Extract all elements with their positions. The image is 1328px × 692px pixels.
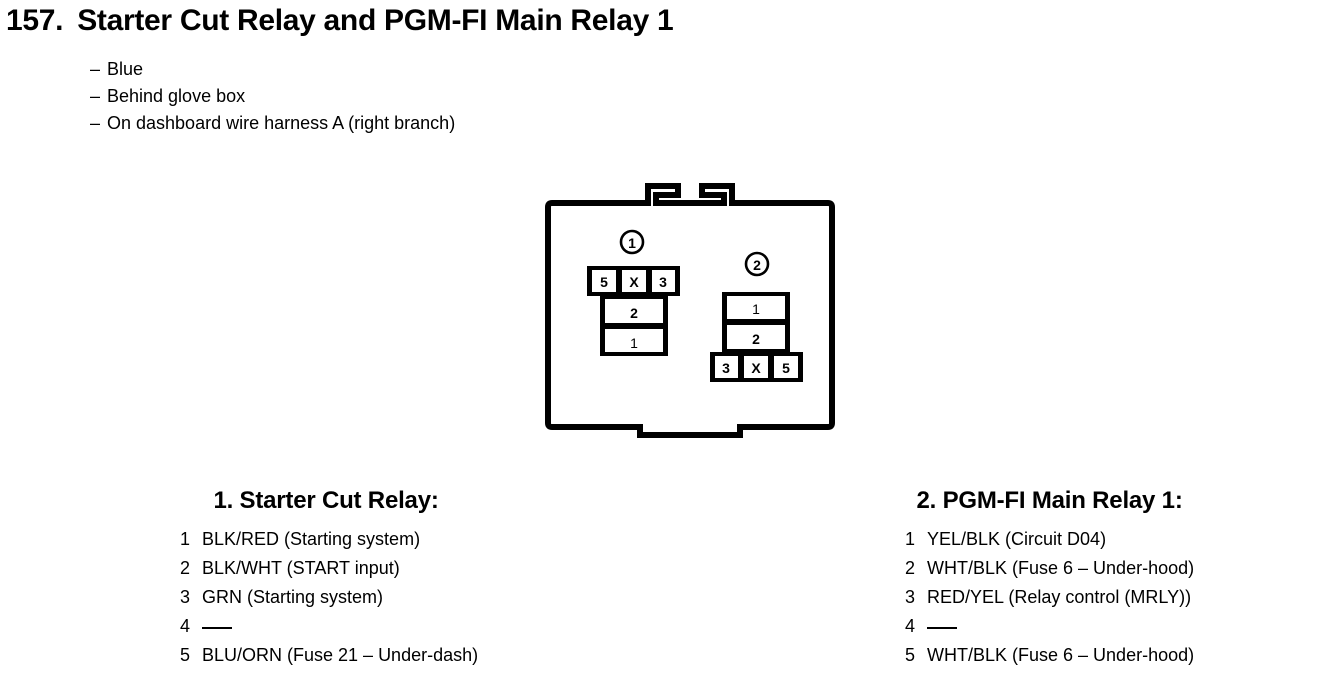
pin-description: WHT/BLK (Fuse 6 – Under-hood) [927,645,1194,666]
pin-cell-label: X [751,360,761,376]
connector-diagram: 1 5 X 3 2 1 [530,178,870,443]
pin-number: 4 [905,616,927,637]
pin-description: WHT/BLK (Fuse 6 – Under-hood) [927,558,1194,579]
legend-row: 4 [180,616,478,645]
page-title-number: 157. [6,4,63,37]
marker-2-label: 2 [753,257,761,273]
page-title-text: Starter Cut Relay and PGM-FI Main Relay … [77,4,673,37]
pin-empty-dash-icon [202,619,232,629]
legend-row: 1 YEL/BLK (Circuit D04) [905,529,1194,558]
block1-mid-cell: 2 [600,296,668,326]
legend-pgm-fi-main-relay: 2. PGM-FI Main Relay 1: 1 YEL/BLK (Circu… [905,487,1194,674]
dash-bullet-icon: – [90,83,107,110]
note-label: On dashboard wire harness A (right branc… [107,113,455,133]
pin-number: 4 [180,616,202,637]
pin-cell-label: 5 [600,274,608,290]
legend-row: 3 GRN (Starting system) [180,587,478,616]
block2-mid-cell: 2 [722,322,790,352]
terminal-marker-1: 1 [621,231,643,253]
legend-row: 1 BLK/RED (Starting system) [180,529,478,558]
terminal-block-1: 1 5 X 3 2 1 [587,231,680,356]
legend-title: 2. PGM-FI Main Relay 1: [905,487,1194,515]
pin-number: 5 [905,645,927,666]
pin-description: RED/YEL (Relay control (MRLY)) [927,587,1191,608]
note-item: –Behind glove box [90,83,455,110]
marker-1-label: 1 [628,235,636,251]
legend-rows: 1 YEL/BLK (Circuit D04) 2 WHT/BLK (Fuse … [905,529,1194,674]
pin-cell-label: 1 [752,301,760,317]
terminal-marker-2: 2 [746,253,768,275]
pin-empty-dash-icon [927,619,957,629]
terminal-block-2: 2 1 2 3 X 5 [710,253,803,382]
legend-row: 5 WHT/BLK (Fuse 6 – Under-hood) [905,645,1194,674]
pin-cell-label: 2 [630,305,638,321]
legend-row: 5 BLU/ORN (Fuse 21 – Under-dash) [180,645,478,674]
block1-bottom-cell: 1 [600,326,668,356]
legend-row: 3 RED/YEL (Relay control (MRLY)) [905,587,1194,616]
pin-cell-label: 2 [752,331,760,347]
pin-cell-label: 3 [722,360,730,376]
legend-starter-cut-relay: 1. Starter Cut Relay: 1 BLK/RED (Startin… [180,487,478,674]
dash-bullet-icon: – [90,56,107,83]
legend-row: 2 WHT/BLK (Fuse 6 – Under-hood) [905,558,1194,587]
pin-number: 3 [905,587,927,608]
pin-number: 1 [180,529,202,550]
note-item: –On dashboard wire harness A (right bran… [90,110,455,137]
pin-cell-label: 3 [659,274,667,290]
block2-top-cell: 1 [722,292,790,322]
note-label: Behind glove box [107,86,245,106]
pin-number: 2 [180,558,202,579]
pin-description: GRN (Starting system) [202,587,383,608]
block2-bottom-row: 3 X 5 [710,352,803,382]
notes-list: –Blue –Behind glove box –On dashboard wi… [90,56,455,137]
page-title: 157.Starter Cut Relay and PGM-FI Main Re… [6,4,673,38]
pin-description: BLK/WHT (START input) [202,558,400,579]
legend-rows: 1 BLK/RED (Starting system) 2 BLK/WHT (S… [180,529,478,674]
pin-description: BLK/RED (Starting system) [202,529,420,550]
pin-number: 1 [905,529,927,550]
pin-number: 3 [180,587,202,608]
pin-cell-label: X [629,274,639,290]
pin-cell-label: 5 [782,360,790,376]
pin-cell-label: 1 [630,335,638,351]
note-item: –Blue [90,56,455,83]
pin-description: BLU/ORN (Fuse 21 – Under-dash) [202,645,478,666]
dash-bullet-icon: – [90,110,107,137]
legend-title: 1. Starter Cut Relay: [180,487,478,515]
note-label: Blue [107,59,143,79]
pin-number: 2 [905,558,927,579]
legend-row: 4 [905,616,1194,645]
block1-top-row: 5 X 3 [587,266,680,296]
legend-row: 2 BLK/WHT (START input) [180,558,478,587]
pin-number: 5 [180,645,202,666]
pin-description: YEL/BLK (Circuit D04) [927,529,1106,550]
